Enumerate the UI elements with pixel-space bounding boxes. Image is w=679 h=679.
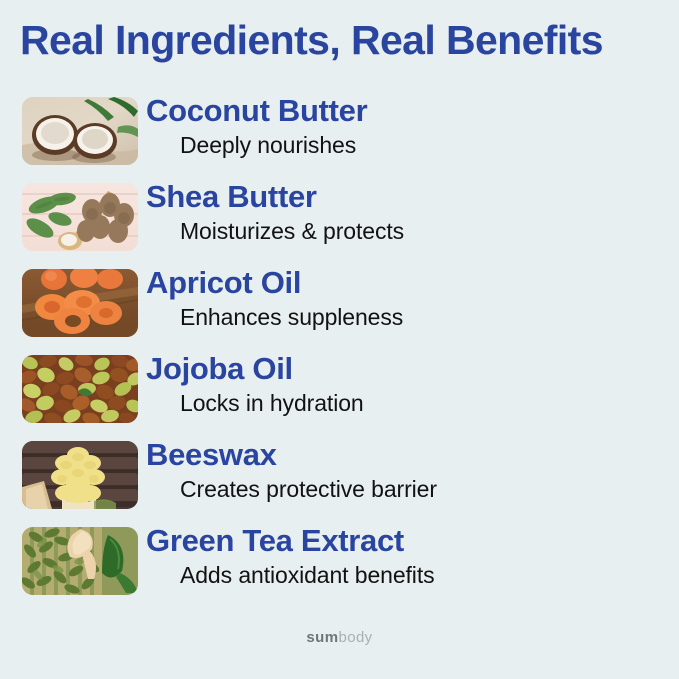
page-title: Real Ingredients, Real Benefits [20, 14, 670, 66]
ingredient-name: Beeswax [146, 436, 676, 474]
ingredient-name: Apricot Oil [146, 264, 676, 302]
brand-logo: sumbody [0, 628, 679, 648]
list-item: Apricot Oil Enhances suppleness [0, 266, 679, 352]
ingredient-name: Coconut Butter [146, 92, 676, 130]
ingredient-text: Beeswax Creates protective barrier [146, 436, 676, 504]
ingredient-name: Shea Butter [146, 178, 676, 216]
list-item: Jojoba Oil Locks in hydration [0, 352, 679, 438]
coconut-halves-photo [22, 97, 138, 165]
ingredient-benefit: Locks in hydration [180, 388, 676, 418]
list-item: Shea Butter Moisturizes & protects [0, 180, 679, 266]
ingredient-name: Green Tea Extract [146, 522, 676, 560]
ingredient-benefit: Deeply nourishes [180, 130, 676, 160]
list-item: Beeswax Creates protective barrier [0, 438, 679, 524]
ingredient-benefit: Moisturizes & protects [180, 216, 676, 246]
ingredient-benefit: Creates protective barrier [180, 474, 676, 504]
jojoba-seeds-photo [22, 355, 138, 423]
ingredient-benefit: Enhances suppleness [180, 302, 676, 332]
apricot-halves-photo [22, 269, 138, 337]
ingredient-benefit: Adds antioxidant benefits [180, 560, 676, 590]
ingredient-text: Jojoba Oil Locks in hydration [146, 350, 676, 418]
ingredient-name: Jojoba Oil [146, 350, 676, 388]
beeswax-pastilles-photo [22, 441, 138, 509]
ingredient-benefits-infographic: Real Ingredients, Real Benefits [0, 0, 679, 679]
list-item: Coconut Butter Deeply nourishes [0, 94, 679, 180]
ingredient-list: Coconut Butter Deeply nourishes [0, 94, 679, 610]
ingredient-text: Shea Butter Moisturizes & protects [146, 178, 676, 246]
ingredient-text: Green Tea Extract Adds antioxidant benef… [146, 522, 676, 590]
green-tea-leaves-photo [22, 527, 138, 595]
ingredient-text: Apricot Oil Enhances suppleness [146, 264, 676, 332]
shea-nuts-photo [22, 183, 138, 251]
list-item: Green Tea Extract Adds antioxidant benef… [0, 524, 679, 610]
ingredient-text: Coconut Butter Deeply nourishes [146, 92, 676, 160]
brand-name-first: sum [306, 629, 338, 646]
brand-name-second: body [338, 629, 372, 646]
